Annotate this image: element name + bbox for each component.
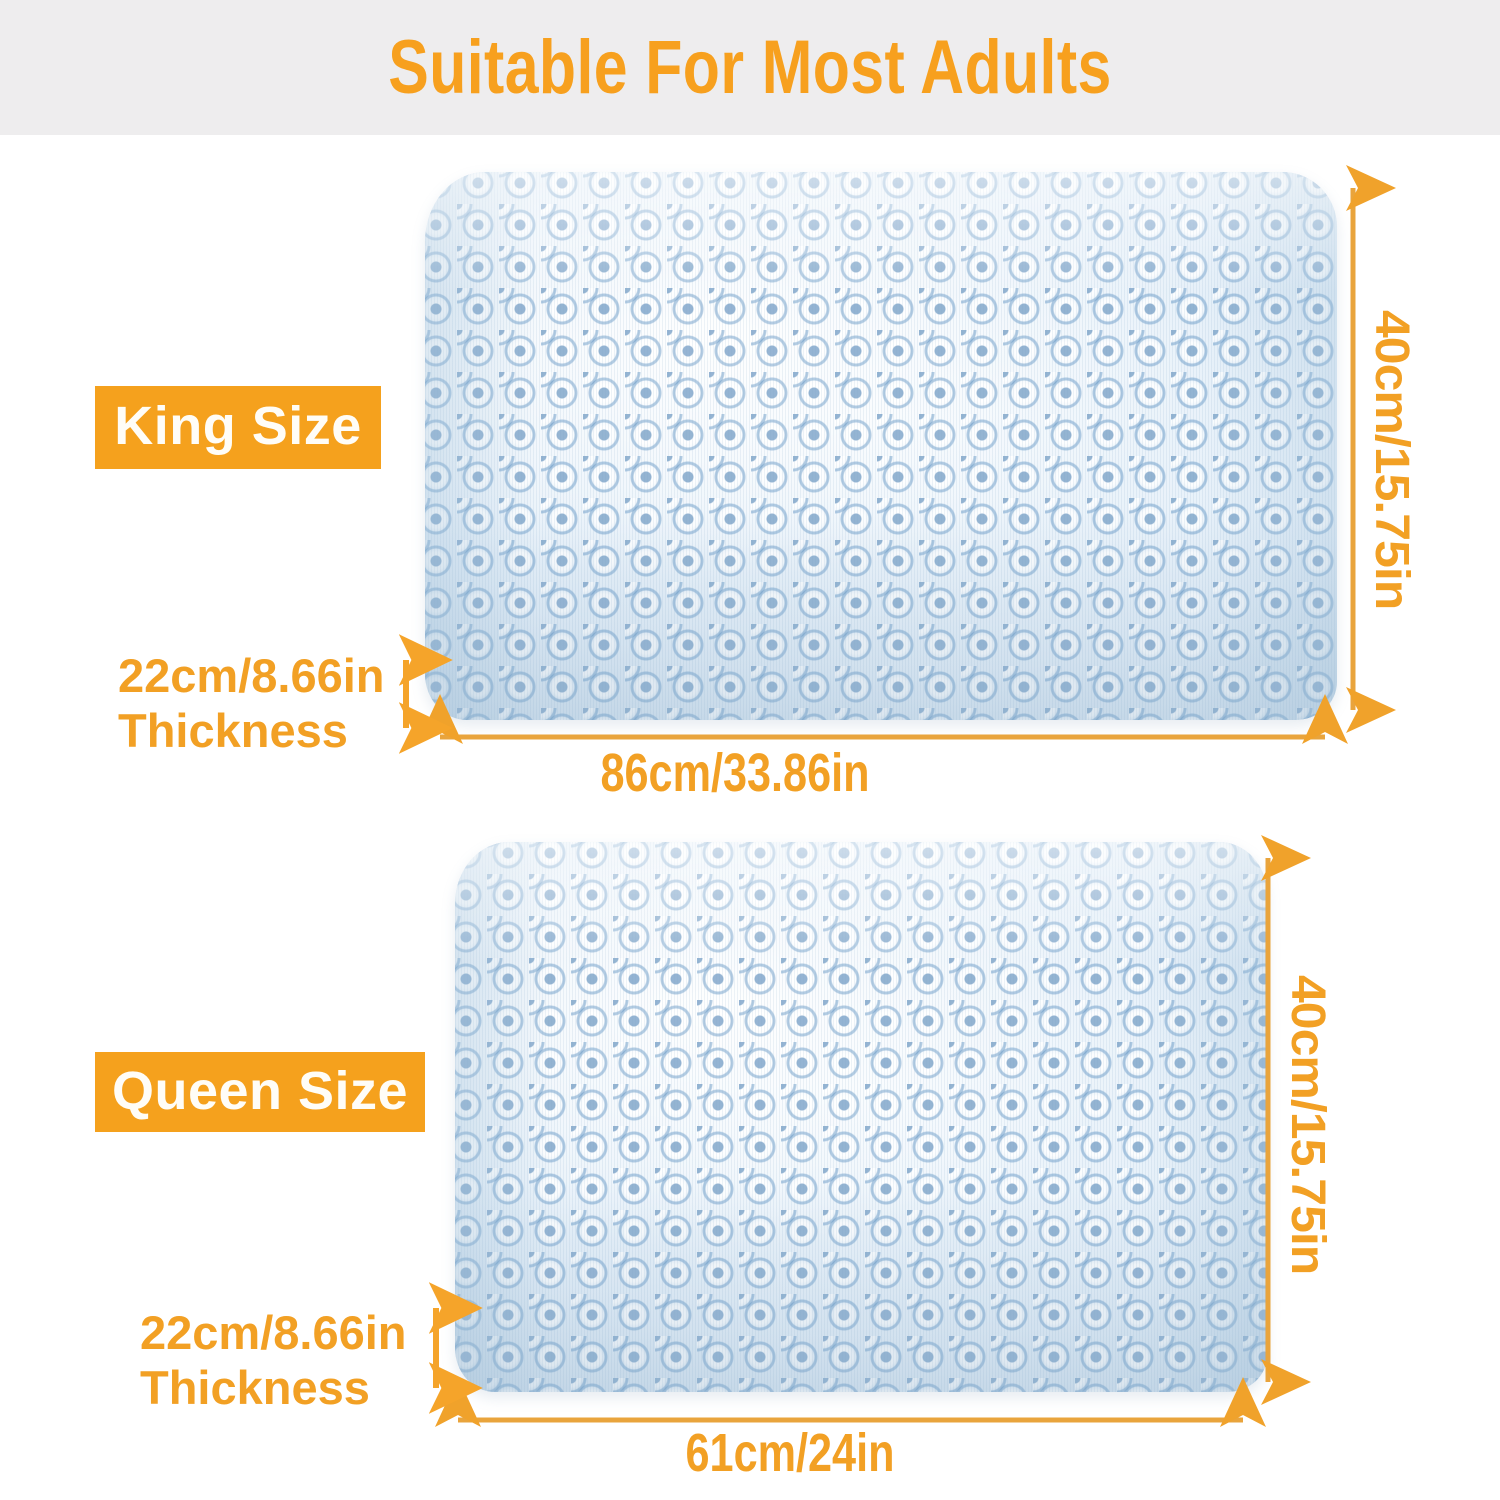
thickness-word-queen: Thickness [140, 1360, 407, 1415]
thickness-value-queen: 22cm/8.66in [140, 1305, 407, 1360]
page-title: Suitable For Most Adults [150, 30, 1350, 106]
header-band: Suitable For Most Adults [0, 0, 1500, 135]
width-dimension-label-king: 86cm/33.86in [601, 745, 870, 802]
thickness-label-king: 22cm/8.66in Thickness [118, 648, 385, 759]
status-badge-queen-size: Queen Size [95, 1052, 425, 1132]
thickness-value-king: 22cm/8.66in [118, 648, 385, 703]
fabric-shading-king [425, 172, 1337, 720]
height-dimension-label-king: 40cm/15.75in [1364, 310, 1420, 609]
badge-label-king: King Size [114, 399, 362, 453]
pillow-image-king [425, 172, 1337, 720]
pillow-image-queen [455, 842, 1267, 1392]
height-dimension-label-queen: 40cm/15.75in [1280, 975, 1336, 1274]
thickness-word-king: Thickness [118, 703, 385, 758]
badge-label-queen: Queen Size [112, 1064, 408, 1118]
thickness-label-queen: 22cm/8.66in Thickness [140, 1305, 407, 1416]
width-dimension-label-queen: 61cm/24in [686, 1425, 895, 1482]
infographic-canvas: Suitable For Most Adults King Size 22cm/… [0, 0, 1500, 1500]
fabric-shading-queen [455, 842, 1267, 1392]
status-badge-king-size: King Size [95, 386, 381, 469]
